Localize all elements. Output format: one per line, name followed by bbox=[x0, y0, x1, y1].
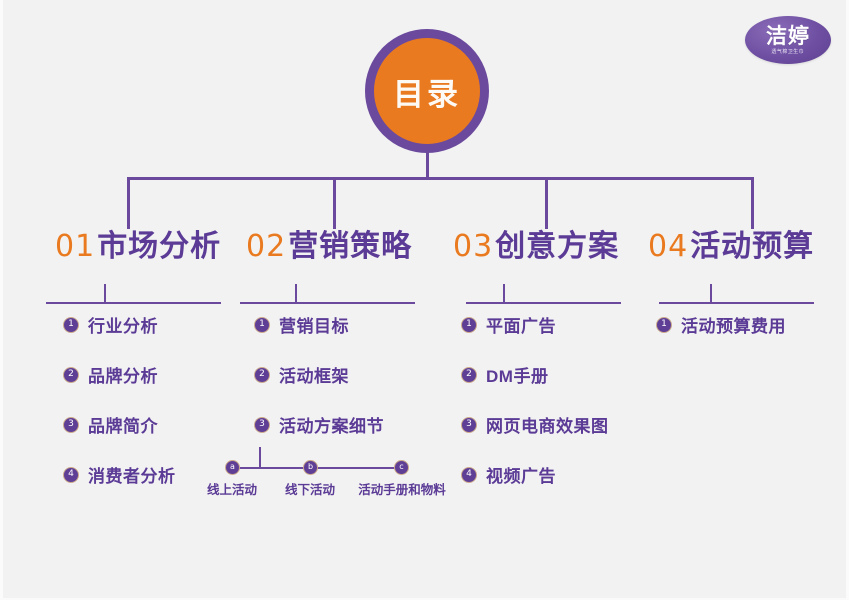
list-item-label: 视频广告 bbox=[486, 462, 556, 487]
sub-bullet-c[interactable]: c bbox=[394, 460, 409, 475]
list-item[interactable]: 2 活动框架 bbox=[254, 362, 384, 387]
list-item[interactable]: 2 品牌分析 bbox=[63, 362, 176, 387]
column-number-4: 04 bbox=[648, 229, 688, 264]
connector-subbranch-bus bbox=[232, 467, 407, 469]
list-item[interactable]: 1 营销目标 bbox=[254, 312, 384, 337]
list-item[interactable]: 2 DM手册 bbox=[461, 362, 609, 387]
column-title-2: 营销策略 bbox=[288, 230, 412, 263]
connector-drop-col-3 bbox=[545, 177, 548, 229]
list-item-label: 消费者分析 bbox=[88, 462, 176, 487]
connector-stub-col-2 bbox=[295, 284, 297, 304]
list-item[interactable]: 3 网页电商效果图 bbox=[461, 412, 609, 437]
sub-bullet-b[interactable]: b bbox=[303, 460, 318, 475]
column-heading-3: 03创意方案 bbox=[453, 232, 619, 262]
root-node-label: 目录 bbox=[393, 69, 461, 114]
list-item[interactable]: 1 平面广告 bbox=[461, 312, 609, 337]
connector-root-stem bbox=[426, 152, 429, 180]
list-item-label: DM手册 bbox=[486, 362, 548, 387]
list-item-label: 品牌简介 bbox=[88, 412, 158, 437]
brand-logo-name: 洁婷 bbox=[766, 26, 810, 47]
divider-col-2 bbox=[240, 302, 415, 304]
column-title-3: 创意方案 bbox=[495, 230, 619, 263]
column-number-2: 02 bbox=[246, 229, 286, 264]
list-item[interactable]: 1 活动预算费用 bbox=[656, 312, 786, 337]
connector-stub-col-3 bbox=[503, 284, 505, 304]
divider-col-4 bbox=[659, 302, 814, 304]
list-item[interactable]: 1 行业分析 bbox=[63, 312, 176, 337]
connector-drop-col-2 bbox=[333, 177, 336, 229]
list-item-label: 活动预算费用 bbox=[681, 312, 786, 337]
bullet-marker: 3 bbox=[254, 417, 270, 433]
list-item[interactable]: 3 品牌简介 bbox=[63, 412, 176, 437]
column-title-1: 市场分析 bbox=[97, 230, 221, 263]
item-list-1: 1 行业分析 2 品牌分析 3 品牌简介 4 消费者分析 bbox=[63, 312, 176, 512]
list-item-label: 活动方案细节 bbox=[279, 412, 384, 437]
bullet-marker: 1 bbox=[461, 317, 477, 333]
bullet-marker: 1 bbox=[63, 317, 79, 333]
sub-bullet-a[interactable]: a bbox=[225, 460, 240, 475]
column-creative-plan: 03创意方案 1 平面广告 2 DM手册 3 网页电商效果图 4 视频广告 bbox=[453, 232, 619, 262]
column-market-analysis: 01市场分析 1 行业分析 2 品牌分析 3 品牌简介 4 消费者分析 bbox=[55, 232, 221, 262]
list-item[interactable]: 3 活动方案细节 bbox=[254, 412, 384, 437]
list-item-label: 网页电商效果图 bbox=[486, 412, 609, 437]
item-list-4: 1 活动预算费用 bbox=[656, 312, 786, 362]
list-item-label: 品牌分析 bbox=[88, 362, 158, 387]
column-heading-4: 04活动预算 bbox=[648, 232, 814, 262]
divider-col-1 bbox=[46, 302, 221, 304]
divider-col-3 bbox=[466, 302, 621, 304]
bullet-marker: 4 bbox=[63, 467, 79, 483]
column-marketing-strategy: 02营销策略 1 营销目标 2 活动框架 3 活动方案细节 bbox=[246, 232, 412, 262]
list-item-label: 营销目标 bbox=[279, 312, 349, 337]
column-heading-1: 01市场分析 bbox=[55, 232, 221, 262]
list-item-label: 活动框架 bbox=[279, 362, 349, 387]
brand-logo: 洁婷 透气棉卫生巾 bbox=[745, 16, 831, 64]
list-item[interactable]: 4 视频广告 bbox=[461, 462, 609, 487]
bullet-marker: 2 bbox=[254, 367, 270, 383]
bullet-marker: 3 bbox=[461, 417, 477, 433]
connector-stub-col-4 bbox=[710, 284, 712, 304]
column-number-3: 03 bbox=[453, 229, 493, 264]
connector-drop-col-1 bbox=[127, 177, 130, 229]
connector-stub-col-1 bbox=[104, 284, 106, 304]
bullet-marker: 3 bbox=[63, 417, 79, 433]
slide-canvas: 洁婷 透气棉卫生巾 目录 01市场分析 1 行业分析 2 品牌分析 bbox=[0, 0, 849, 600]
bullet-marker: 1 bbox=[656, 317, 672, 333]
list-item-label: 平面广告 bbox=[486, 312, 556, 337]
bullet-marker: 2 bbox=[63, 367, 79, 383]
brand-logo-tagline: 透气棉卫生巾 bbox=[772, 50, 805, 55]
column-title-4: 活动预算 bbox=[690, 230, 814, 263]
bullet-marker: 1 bbox=[254, 317, 270, 333]
list-item-label: 行业分析 bbox=[88, 312, 158, 337]
list-item[interactable]: 4 消费者分析 bbox=[63, 462, 176, 487]
item-list-2: 1 营销目标 2 活动框架 3 活动方案细节 bbox=[254, 312, 384, 462]
column-number-1: 01 bbox=[55, 229, 95, 264]
sub-label-b: 线下活动 bbox=[271, 479, 349, 498]
column-activity-budget: 04活动预算 1 活动预算费用 bbox=[648, 232, 814, 262]
column-heading-2: 02营销策略 bbox=[246, 232, 412, 262]
item-list-3: 1 平面广告 2 DM手册 3 网页电商效果图 4 视频广告 bbox=[461, 312, 609, 512]
bullet-marker: 4 bbox=[461, 467, 477, 483]
connector-main-bus bbox=[127, 177, 754, 180]
sub-label-a: 线上活动 bbox=[193, 479, 271, 498]
sub-label-c: 活动手册和物料 bbox=[347, 479, 457, 498]
bullet-marker: 2 bbox=[461, 367, 477, 383]
root-node-catalog: 目录 bbox=[365, 29, 489, 153]
connector-drop-col-4 bbox=[751, 177, 754, 229]
